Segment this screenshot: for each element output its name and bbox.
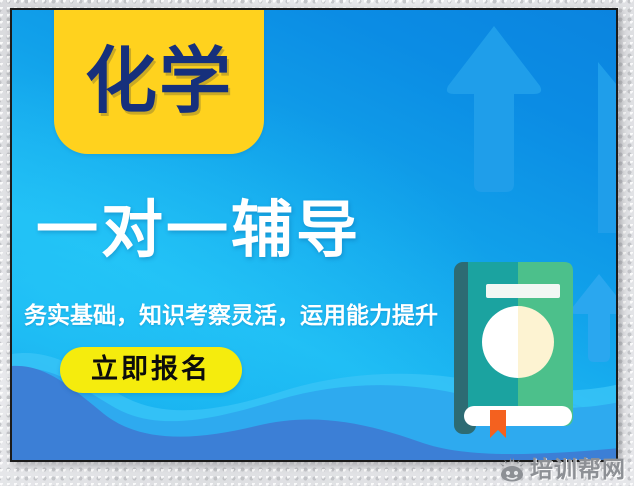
up-arrow-edge-icon [568,60,618,235]
textbook-illustration [452,258,582,438]
promo-banner[interactable]: 化学 一对一辅导 务实基础，知识考察灵活，运用能力提升 立即报名 [10,8,618,462]
enroll-now-label: 立即报名 [60,347,242,393]
watermark-text: 培训帮网 [530,457,626,483]
subject-badge: 化学 [54,8,264,154]
page-background: 化学 一对一辅导 务实基础，知识考察灵活，运用能力提升 立即报名 [0,0,634,486]
banner-subtitle: 务实基础，知识考察灵活，运用能力提升 [24,300,474,332]
enroll-now-button[interactable]: 立即报名 [60,347,242,393]
banner-headline: 一对一辅导 [36,192,456,268]
subject-label: 化学 [54,40,264,122]
up-arrow-large-icon [444,24,544,194]
sun-face-icon [499,458,525,482]
site-watermark: 培训帮网 [495,455,630,485]
